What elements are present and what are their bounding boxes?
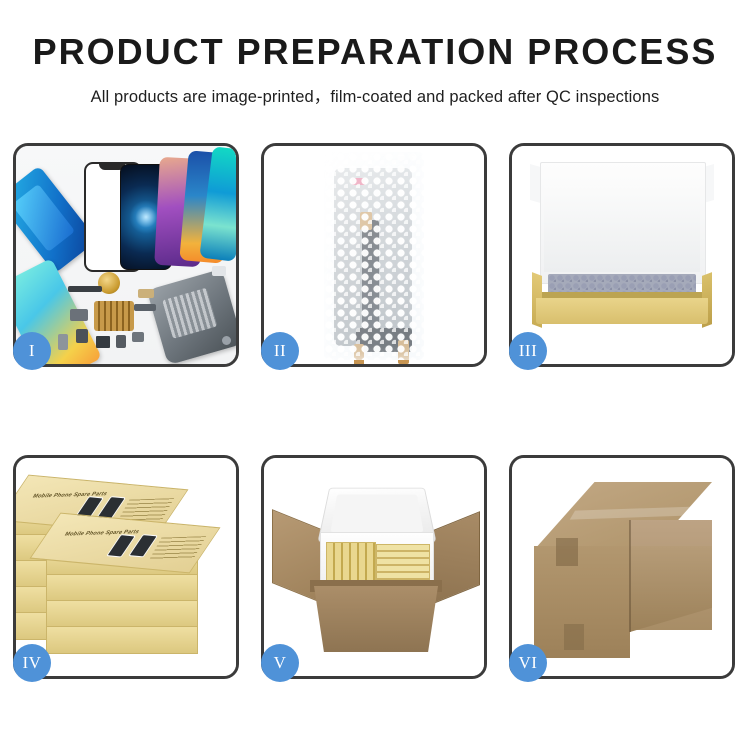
carton-vertical-edge — [629, 520, 631, 632]
photo-stacked-retail-boxes: Mobile Phone Spare Parts Mobi — [16, 458, 236, 676]
step-panel-6: VI — [509, 455, 735, 679]
kraft-box-tray — [536, 298, 708, 324]
phone-back-housing — [147, 269, 236, 364]
step-badge-6: VI — [509, 644, 547, 682]
step-badge-3: III — [509, 332, 547, 370]
spare-part — [134, 304, 156, 311]
photo-inner-box — [512, 146, 732, 364]
spare-part — [138, 289, 154, 298]
header: PRODUCT PREPARATION PROCESS All products… — [0, 0, 750, 107]
photo-product-screens — [16, 146, 236, 364]
carton-top-seam — [570, 505, 728, 519]
spare-part — [68, 286, 102, 292]
photo-sealed-carton — [512, 458, 732, 676]
step-badge-1: I — [13, 332, 51, 370]
box-stack: Mobile Phone Spare Parts Mobi — [16, 474, 236, 670]
retail-box — [46, 600, 198, 628]
carton-body — [314, 586, 438, 652]
photo-bubble-wrapped-screen — [264, 146, 484, 364]
box-spec-lines — [149, 536, 206, 560]
step-panel-1: I — [13, 143, 239, 367]
retail-box — [46, 574, 198, 602]
spare-part — [212, 266, 226, 276]
process-step-grid: I II — [13, 143, 737, 733]
spare-part — [76, 329, 88, 343]
foam-sheet — [544, 186, 700, 272]
spare-part — [96, 336, 110, 348]
spare-part — [222, 336, 231, 345]
spare-part — [116, 335, 126, 348]
step-panel-5: V — [261, 455, 487, 679]
step-panel-2: II — [261, 143, 487, 367]
spare-part — [58, 334, 68, 350]
step-panel-3: III — [509, 143, 735, 367]
step-panel-4: Mobile Phone Spare Parts Mobi — [13, 455, 239, 679]
carton-tape-top — [556, 538, 578, 566]
product-preparation-infographic: PRODUCT PREPARATION PROCESS All products… — [0, 0, 750, 750]
page-subtitle: All products are image-printed，film-coat… — [0, 83, 750, 107]
chip-grid-part — [94, 301, 134, 331]
box-stripes — [377, 545, 429, 585]
photo-foam-case-in-carton — [264, 458, 484, 676]
step-badge-4: IV — [13, 644, 51, 682]
spare-part — [132, 332, 144, 342]
step-badge-2: II — [261, 332, 299, 370]
carton-tape-bottom — [564, 624, 584, 650]
spare-part — [70, 309, 88, 321]
step-badge-5: V — [261, 644, 299, 682]
retail-box — [46, 626, 198, 654]
bubble-texture — [324, 152, 424, 360]
bubble-wrap-bag — [324, 152, 424, 360]
box-stripes — [327, 543, 375, 585]
page-title: PRODUCT PREPARATION PROCESS — [0, 34, 750, 70]
